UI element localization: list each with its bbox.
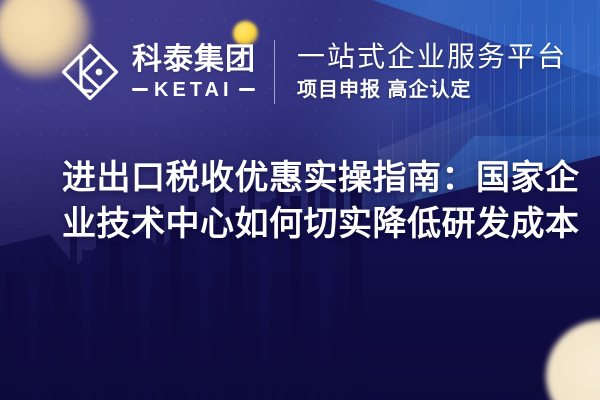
headline-block: 进出口税收优惠实操指南：国家企 业技术中心如何切实降低研发成本 xyxy=(62,156,554,248)
headline-line-1: 进出口税收优惠实操指南：国家企 xyxy=(62,156,554,202)
promo-banner: 科泰集团 KETAI 一站式企业服务平台 项目申报 高企认定 进出口税收优惠实操… xyxy=(0,0,600,400)
logo-dash-right xyxy=(239,88,255,91)
ketai-diamond-k-logo-icon xyxy=(58,40,122,104)
banner-content: 科泰集团 KETAI 一站式企业服务平台 项目申报 高企认定 进出口税收优惠实操… xyxy=(0,0,600,400)
brand-row: 科泰集团 KETAI 一站式企业服务平台 项目申报 高企认定 xyxy=(58,40,567,104)
headline-line-2: 业技术中心如何切实降低研发成本 xyxy=(62,202,554,248)
logo-name-en-row: KETAI xyxy=(132,80,256,100)
logo-name-cn: 科泰集团 xyxy=(132,44,256,75)
logo-name-en: KETAI xyxy=(154,80,233,100)
logo-dash-left xyxy=(132,88,148,91)
logo-wordmark: 科泰集团 KETAI xyxy=(132,44,256,99)
brand-divider xyxy=(274,40,275,104)
tagline-sub: 项目申报 高企认定 xyxy=(297,78,567,102)
tagline-block: 一站式企业服务平台 项目申报 高企认定 xyxy=(297,42,567,103)
tagline-main: 一站式企业服务平台 xyxy=(297,42,567,73)
